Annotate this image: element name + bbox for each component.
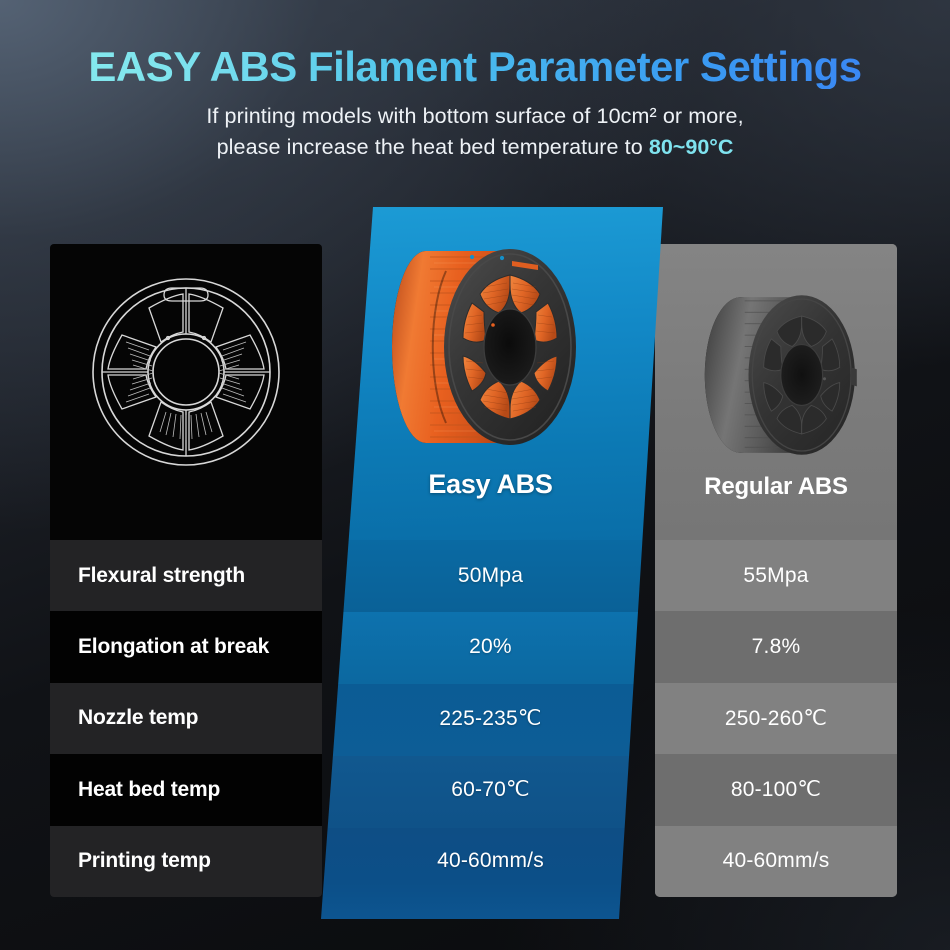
table-cell: 50Mpa (318, 540, 663, 611)
filament-spool-outline-icon (86, 272, 286, 472)
cell-value: 7.8% (752, 635, 801, 659)
table-cell: 250-260℃ (655, 683, 897, 754)
table-cell: 7.8% (655, 611, 897, 682)
comparison-table: Flexural strength Elongation at break No… (0, 0, 950, 950)
cell-value: 250-260℃ (725, 706, 827, 731)
table-row: Printing temp (50, 826, 322, 897)
regular-abs-values: 55Mpa 7.8% 250-260℃ 80-100℃ 40-60mm/s (655, 540, 897, 897)
label-column-image-cell (50, 244, 322, 540)
gray-filament-spool-image (679, 280, 875, 470)
regular-abs-header: Regular ABS (655, 473, 897, 501)
table-cell: 40-60mm/s (318, 826, 663, 897)
cell-value: 40-60mm/s (437, 849, 544, 873)
cell-value: 225-235℃ (439, 706, 541, 731)
promo-page: EASY ABS Filament Parameter Settings If … (0, 0, 950, 950)
cell-value: 80-100℃ (731, 777, 821, 802)
table-cell: 55Mpa (655, 540, 897, 611)
table-cell: 225-235℃ (318, 683, 663, 754)
orange-filament-spool-image (362, 231, 602, 461)
row-label: Printing temp (78, 849, 211, 873)
cell-value: 40-60mm/s (723, 849, 830, 873)
cell-value: 50Mpa (458, 564, 523, 588)
row-label: Heat bed temp (78, 778, 220, 802)
easy-abs-header: Easy ABS (318, 469, 663, 500)
regular-abs-column: Regular ABS 55Mpa 7.8% 250-260℃ 80-100℃ … (655, 244, 897, 897)
row-label: Flexural strength (78, 564, 245, 588)
table-cell: 40-60mm/s (655, 826, 897, 897)
table-row: Flexural strength (50, 540, 322, 611)
table-cell: 20% (318, 611, 663, 682)
cell-value: 60-70℃ (451, 777, 530, 802)
cell-value: 20% (469, 635, 512, 659)
table-row: Nozzle temp (50, 683, 322, 754)
row-label: Elongation at break (78, 635, 269, 659)
table-row: Elongation at break (50, 611, 322, 682)
table-cell: 80-100℃ (655, 754, 897, 825)
row-label: Nozzle temp (78, 706, 198, 730)
easy-abs-values: 50Mpa 20% 225-235℃ 60-70℃ 40-60mm/s (318, 540, 663, 897)
label-rows: Flexural strength Elongation at break No… (50, 540, 322, 897)
easy-abs-column: Easy ABS 50Mpa 20% 225-235℃ 60-70℃ 40-60… (318, 207, 663, 919)
table-row: Heat bed temp (50, 754, 322, 825)
table-cell: 60-70℃ (318, 754, 663, 825)
cell-value: 55Mpa (743, 564, 808, 588)
label-column: Flexural strength Elongation at break No… (50, 244, 322, 897)
